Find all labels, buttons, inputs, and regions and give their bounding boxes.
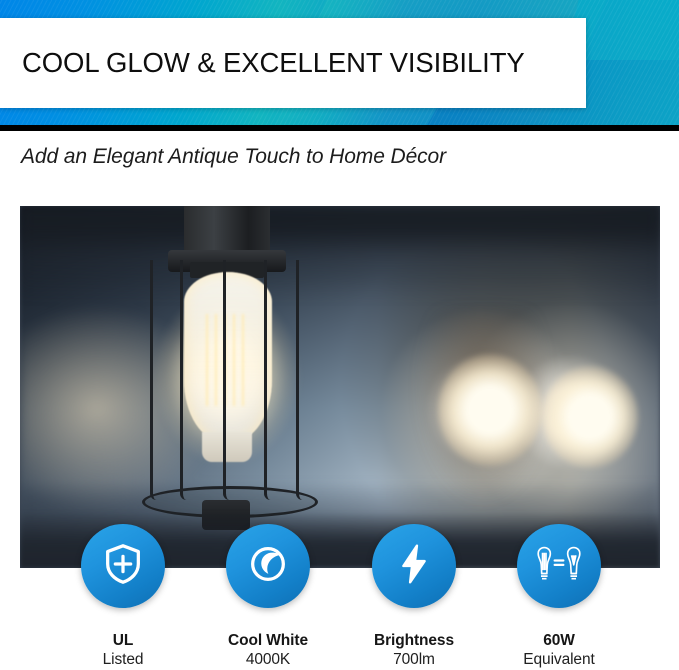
shield-plus-icon	[100, 541, 146, 592]
title-card: COOL GLOW & EXCELLENT VISIBILITY	[0, 18, 586, 108]
feature-icon-circle	[517, 524, 601, 608]
feature-label-line2: 4000K	[198, 651, 338, 670]
feature-label: UL Listed	[53, 632, 193, 670]
feature-label-line1: Brightness	[344, 632, 484, 651]
feature-label: 60W Equivalent	[489, 632, 629, 670]
feature-cool-white: Cool White 4000K	[198, 524, 338, 670]
feature-label: Brightness 700lm	[344, 632, 484, 670]
cage-wire-1	[150, 260, 163, 500]
page-title: COOL GLOW & EXCELLENT VISIBILITY	[22, 49, 525, 77]
feature-label-line2: Listed	[53, 651, 193, 670]
cage-wire-3	[223, 260, 236, 500]
feature-brightness: Brightness 700lm	[344, 524, 484, 670]
feature-icon-circle	[226, 524, 310, 608]
feature-label: Cool White 4000K	[198, 632, 338, 670]
feature-label-line2: Equivalent	[489, 651, 629, 670]
background-bulb-1	[438, 354, 542, 466]
feature-wattage-equivalent: 60W Equivalent	[489, 524, 629, 670]
cage-wire-2	[180, 260, 193, 500]
two-bulbs-equals-icon	[533, 538, 585, 595]
cage-wire-5	[296, 260, 309, 500]
lightning-bolt-icon	[391, 541, 437, 592]
feature-label-line1: UL	[53, 632, 193, 651]
crescent-moon-icon	[245, 541, 291, 592]
feature-ul-listed: UL Listed	[53, 524, 193, 670]
feature-label-line1: Cool White	[198, 632, 338, 651]
feature-label-line1: 60W	[489, 632, 629, 651]
feature-icon-circle	[372, 524, 456, 608]
header-divider-rule	[0, 125, 679, 131]
subtitle: Add an Elegant Antique Touch to Home Déc…	[21, 145, 446, 169]
feature-icon-circle	[81, 524, 165, 608]
background-bulb-2	[542, 366, 638, 468]
header-banner: COOL GLOW & EXCELLENT VISIBILITY	[0, 0, 679, 125]
cage-wire-4	[264, 260, 277, 500]
feature-row: UL Listed Cool White 4000K	[0, 520, 679, 662]
feature-label-line2: 700lm	[344, 651, 484, 670]
caged-lamp-fixture	[128, 206, 324, 534]
product-photo	[20, 206, 660, 568]
